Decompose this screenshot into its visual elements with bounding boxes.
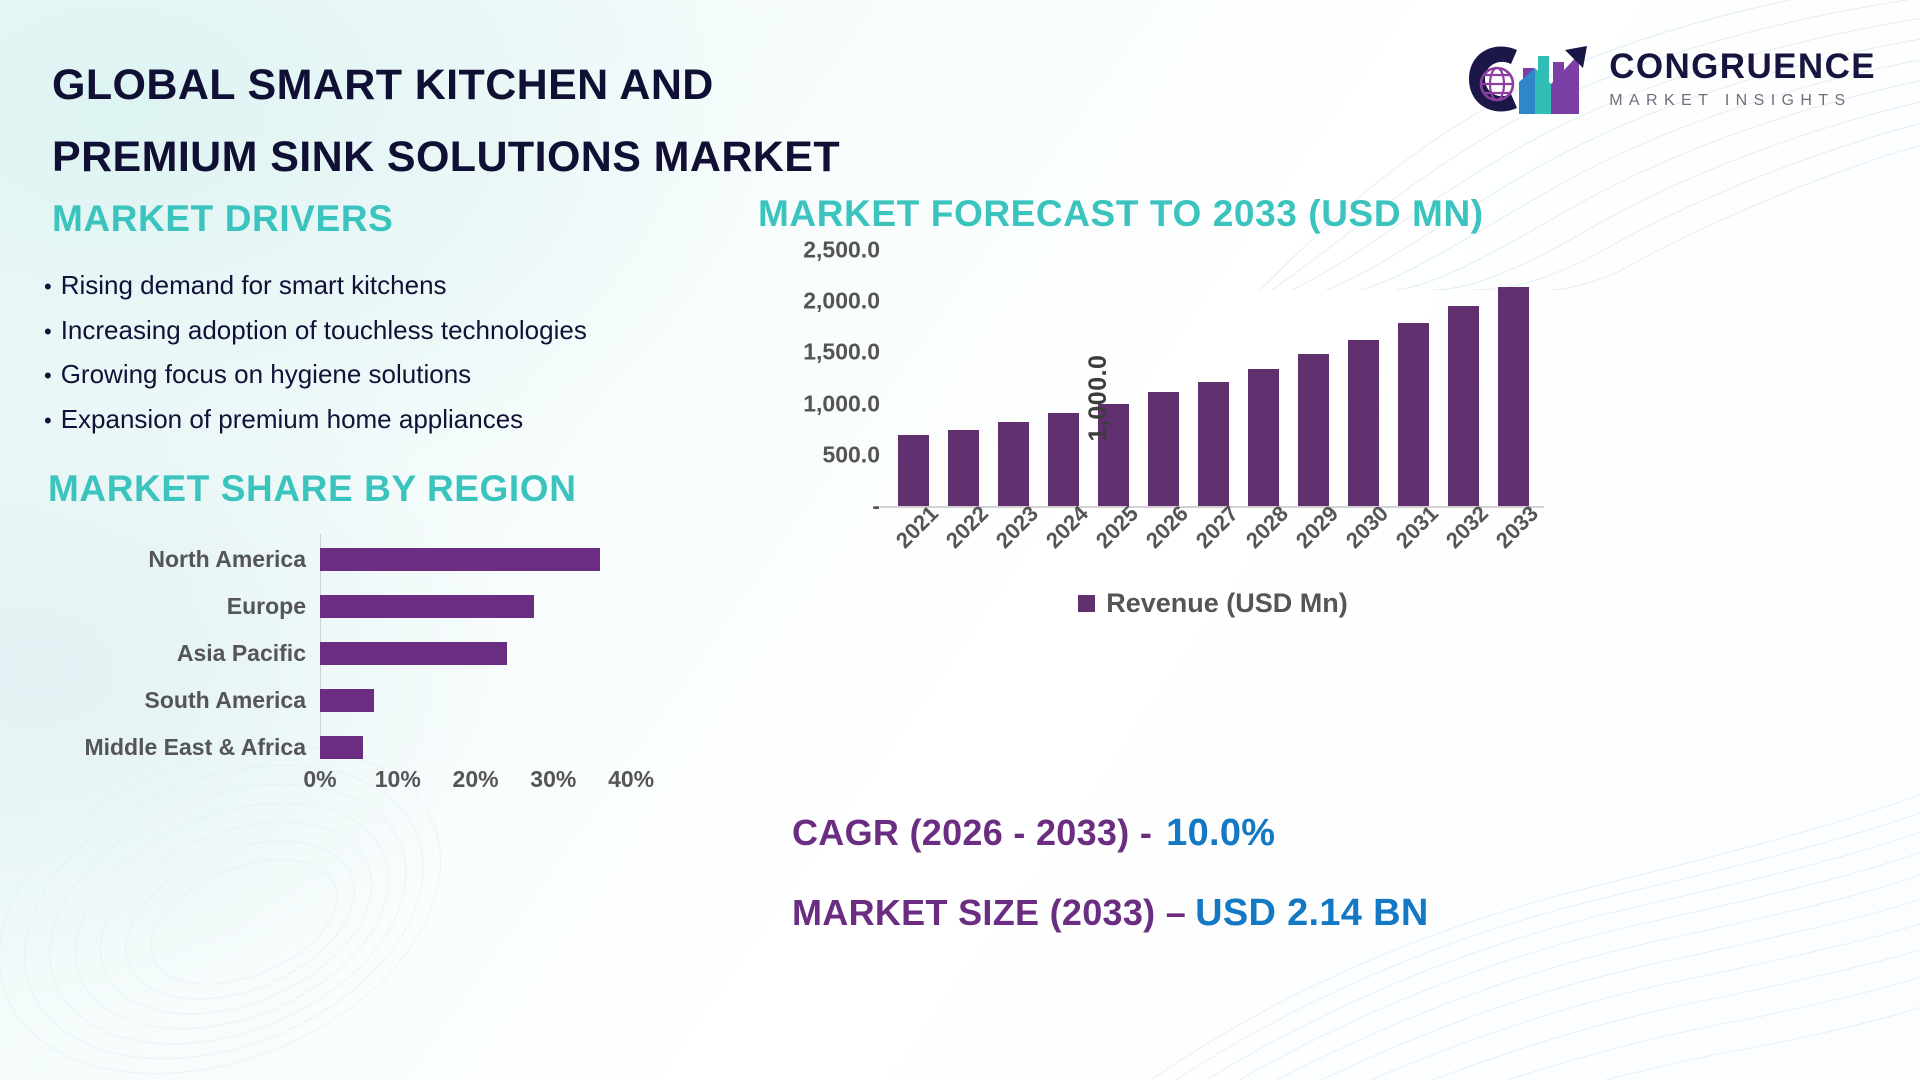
forecast-x-tick: 2024 — [1041, 501, 1094, 554]
forecast-x-tick: 2022 — [941, 501, 994, 554]
region-bar — [320, 642, 507, 665]
driver-item-label: Growing focus on hygiene solutions — [61, 352, 471, 397]
region-row: Middle East & Africa — [40, 724, 700, 771]
logo-text: CONGRUENCE MARKET INSIGHTS — [1609, 49, 1876, 109]
logo-tagline: MARKET INSIGHTS — [1609, 93, 1876, 109]
region-x-tick: 20% — [453, 766, 499, 793]
forecast-bar-cell — [1438, 250, 1488, 506]
forecast-x-tick: 2025 — [1091, 501, 1144, 554]
region-bar — [320, 689, 374, 712]
forecast-x-cell: 2026 — [1138, 512, 1188, 582]
market-share-region-chart: North AmericaEuropeAsia PacificSouth Ame… — [40, 528, 700, 818]
forecast-x-tick: 2026 — [1141, 501, 1194, 554]
driver-item: •Expansion of premium home appliances — [44, 397, 744, 442]
forecast-bar-cell — [1288, 250, 1338, 506]
forecast-bar — [1398, 323, 1429, 506]
driver-item-label: Increasing adoption of touchless technol… — [61, 308, 587, 353]
cagr-stat: CAGR (2026 - 2033) - 10.0% — [792, 812, 1275, 855]
forecast-x-cell: 2031 — [1388, 512, 1438, 582]
driver-item-label: Rising demand for smart kitchens — [61, 263, 447, 308]
forecast-bar-cell — [938, 250, 988, 506]
region-row: Asia Pacific — [40, 630, 700, 677]
forecast-x-tick: 2032 — [1441, 501, 1494, 554]
forecast-y-tick: - — [872, 493, 880, 520]
forecast-bar-cell: 1,000.0 — [1088, 250, 1138, 506]
forecast-x-tick: 2023 — [991, 501, 1044, 554]
forecast-y-tick: 1,500.0 — [803, 339, 880, 366]
region-bar-track — [320, 583, 700, 630]
forecast-bar — [1248, 369, 1279, 506]
region-chart-rows: North AmericaEuropeAsia PacificSouth Ame… — [40, 536, 700, 771]
region-bar-track — [320, 536, 700, 583]
forecast-x-tick: 2029 — [1291, 501, 1344, 554]
market-drivers-list: •Rising demand for smart kitchens•Increa… — [44, 263, 744, 442]
region-x-tick: 30% — [530, 766, 576, 793]
forecast-y-tick: 500.0 — [822, 441, 880, 468]
market-share-heading: MARKET SHARE BY REGION — [48, 468, 577, 510]
logo-company-name: CONGRUENCE — [1609, 49, 1876, 84]
forecast-bars: 1,000.0 — [888, 250, 1538, 506]
region-x-tick: 10% — [375, 766, 421, 793]
cagr-value: 10.0% — [1166, 812, 1275, 855]
region-label: South America — [40, 687, 320, 714]
forecast-data-label: 1,000.0 — [1084, 354, 1113, 441]
forecast-x-cell: 2021 — [888, 512, 938, 582]
bullet-icon: • — [44, 276, 52, 298]
forecast-x-cell: 2032 — [1438, 512, 1488, 582]
region-label: Middle East & Africa — [40, 734, 320, 761]
forecast-bar-cell — [1238, 250, 1288, 506]
forecast-x-cell: 2029 — [1288, 512, 1338, 582]
page-title: GLOBAL SMART KITCHEN AND PREMIUM SINK SO… — [52, 50, 1102, 194]
forecast-bar — [1048, 413, 1079, 506]
driver-item: •Growing focus on hygiene solutions — [44, 352, 744, 397]
region-label: Europe — [40, 593, 320, 620]
forecast-x-cell: 2023 — [988, 512, 1038, 582]
forecast-bar — [1348, 340, 1379, 506]
region-bar — [320, 595, 534, 618]
forecast-bar — [1448, 306, 1479, 506]
cagr-label: CAGR (2026 - 2033) - — [792, 812, 1152, 854]
bullet-icon: • — [44, 410, 52, 432]
forecast-bar — [998, 422, 1029, 506]
driver-item: •Increasing adoption of touchless techno… — [44, 308, 744, 353]
forecast-bar — [1198, 382, 1229, 506]
region-bar-track — [320, 677, 700, 724]
logo-mark-icon — [1461, 42, 1593, 116]
forecast-x-cell: 2025 — [1088, 512, 1138, 582]
forecast-x-cell: 2028 — [1238, 512, 1288, 582]
brand-logo: CONGRUENCE MARKET INSIGHTS — [1461, 42, 1876, 116]
region-bar — [320, 548, 600, 571]
region-bar — [320, 736, 363, 759]
forecast-bar-cell — [1338, 250, 1388, 506]
region-row: South America — [40, 677, 700, 724]
forecast-bar — [1148, 392, 1179, 506]
forecast-x-axis: 2021202220232024202520262027202820292030… — [888, 512, 1538, 582]
forecast-x-cell: 2027 — [1188, 512, 1238, 582]
region-chart-x-axis: 0%10%20%30%40% — [320, 766, 670, 800]
page-title-line-1: GLOBAL SMART KITCHEN AND — [52, 50, 1102, 122]
forecast-y-tick: 1,000.0 — [803, 390, 880, 417]
forecast-x-cell: 2022 — [938, 512, 988, 582]
forecast-bar — [1498, 287, 1529, 506]
region-label: North America — [40, 546, 320, 573]
legend-swatch-icon — [1078, 595, 1095, 612]
region-label: Asia Pacific — [40, 640, 320, 667]
forecast-x-cell: 2030 — [1338, 512, 1388, 582]
forecast-y-tick: 2,000.0 — [803, 288, 880, 315]
forecast-y-axis: -500.01,000.01,500.02,000.02,500.0 — [760, 250, 880, 506]
forecast-bar-cell — [1038, 250, 1088, 506]
forecast-bar-cell — [888, 250, 938, 506]
forecast-x-tick: 2031 — [1391, 501, 1444, 554]
region-bar-track — [320, 724, 700, 771]
driver-item-label: Expansion of premium home appliances — [61, 397, 523, 442]
forecast-x-cell: 2024 — [1038, 512, 1088, 582]
forecast-x-tick: 2027 — [1191, 501, 1244, 554]
page-title-line-2: PREMIUM SINK SOLUTIONS MARKET — [52, 122, 1102, 194]
forecast-bar-cell — [1138, 250, 1188, 506]
forecast-x-cell: 2033 — [1488, 512, 1538, 582]
region-row: Europe — [40, 583, 700, 630]
forecast-legend: Revenue (USD Mn) — [888, 588, 1538, 619]
region-row: North America — [40, 536, 700, 583]
forecast-x-tick: 2028 — [1241, 501, 1294, 554]
forecast-bar — [1298, 354, 1329, 506]
bullet-icon: • — [44, 321, 52, 343]
legend-label: Revenue (USD Mn) — [1106, 588, 1348, 619]
market-size-value: USD 2.14 BN — [1195, 892, 1429, 935]
forecast-bar-cell — [1488, 250, 1538, 506]
forecast-x-tick: 2030 — [1341, 501, 1394, 554]
market-drivers-heading: MARKET DRIVERS — [52, 198, 393, 240]
driver-item: •Rising demand for smart kitchens — [44, 263, 744, 308]
forecast-x-tick: 2033 — [1491, 501, 1544, 554]
forecast-bar-cell — [1388, 250, 1438, 506]
bullet-icon: • — [44, 365, 52, 387]
market-size-label: MARKET SIZE (2033) – — [792, 892, 1186, 934]
forecast-bar — [948, 430, 979, 506]
region-x-tick: 0% — [303, 766, 336, 793]
forecast-x-tick: 2021 — [891, 501, 944, 554]
market-forecast-chart: -500.01,000.01,500.02,000.02,500.0 1,000… — [760, 250, 1870, 750]
market-size-stat: MARKET SIZE (2033) – USD 2.14 BN — [792, 892, 1429, 935]
forecast-bar-cell — [1188, 250, 1238, 506]
forecast-bar-cell — [988, 250, 1038, 506]
market-forecast-heading: MARKET FORECAST TO 2033 (USD MN) — [758, 193, 1484, 235]
region-bar-track — [320, 630, 700, 677]
region-x-tick: 40% — [608, 766, 654, 793]
forecast-y-tick: 2,500.0 — [803, 237, 880, 264]
forecast-bar — [898, 435, 929, 506]
